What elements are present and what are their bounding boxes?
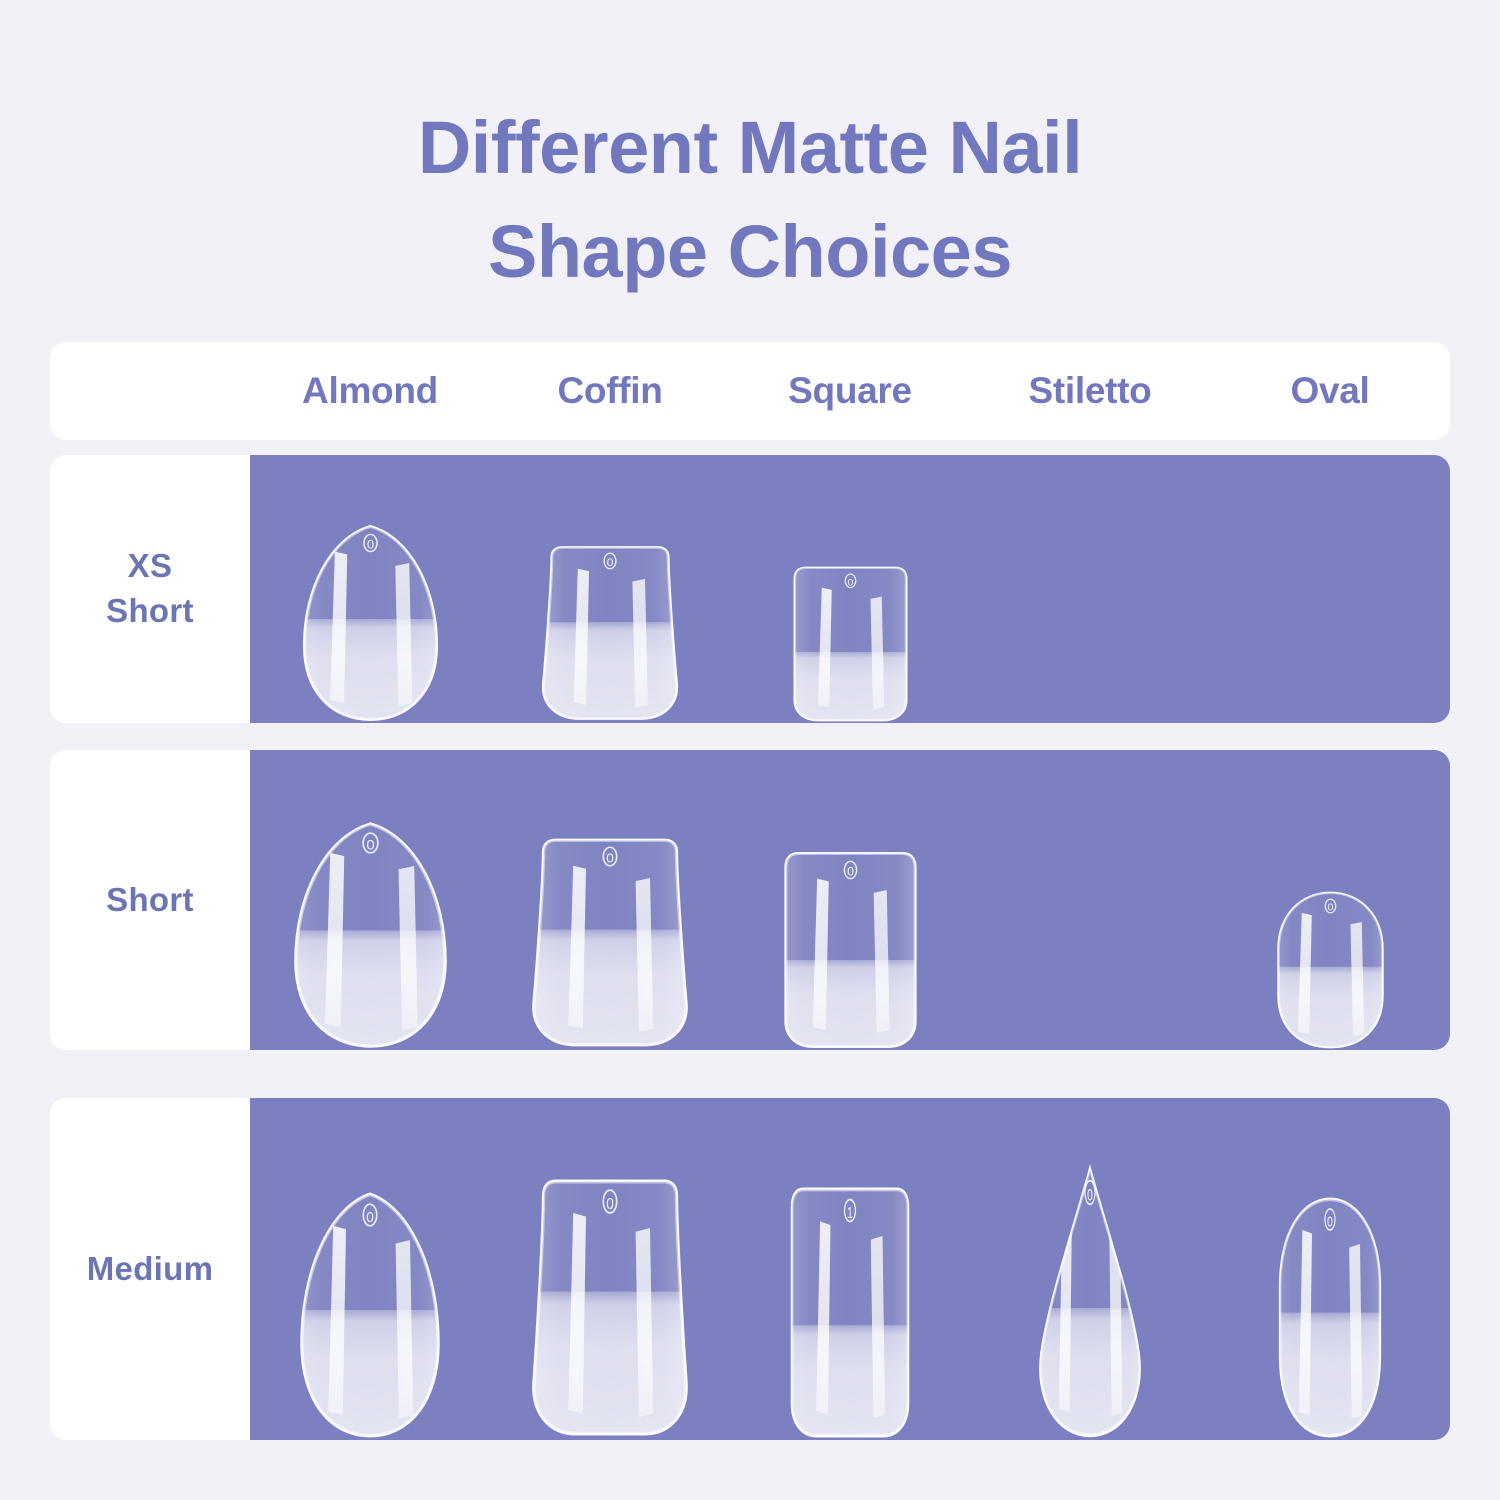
nail-cell-medium-stiletto: 0 [970, 1098, 1210, 1440]
nail-cell-medium-square: 1 [730, 1098, 970, 1440]
nail-size-marking-text: 0 [366, 1210, 374, 1227]
nail-cell-xs-short-coffin: 0 [490, 455, 730, 723]
nail-glitter-speckle [779, 1325, 922, 1440]
nail-almond-xs-short: 0 [293, 523, 448, 723]
nail-coffin-short: 0 [530, 835, 690, 1050]
nail-coffin-xs-short: 0 [540, 543, 680, 723]
nail-shape-square-svg: 0 [778, 850, 923, 1050]
nail-cell-xs-short-oval [1210, 455, 1450, 723]
row-label-line-2: Short [106, 589, 194, 634]
nail-size-marking-text: 0 [607, 558, 614, 569]
size-row-body-xs-short: 0 [250, 455, 1450, 723]
nail-size-marking-text: 0 [366, 538, 373, 551]
nail-body-group [282, 1190, 458, 1440]
column-header-oval: Oval [1210, 370, 1450, 412]
row-label-short: Short [106, 878, 194, 923]
nail-size-marking-text: 0 [1087, 1185, 1093, 1204]
page-title: Different Matte Nail Shape Choices [0, 96, 1500, 303]
nail-oval-short: 0 [1268, 890, 1393, 1050]
column-header-square: Square [730, 370, 970, 412]
nail-cell-short-coffin: 0 [490, 750, 730, 1050]
nail-size-marking-text: 0 [1327, 1213, 1333, 1230]
nail-size-marking-text: 0 [606, 1196, 614, 1213]
nail-size-marking-text: 0 [606, 851, 614, 866]
nail-shape-chart-page: Different Matte Nail Shape Choices Almon… [0, 0, 1500, 1500]
nail-body-group [522, 835, 698, 1050]
nail-glitter-speckle [781, 652, 919, 723]
nail-almond-short: 0 [283, 820, 458, 1050]
nail-glitter-speckle [285, 619, 456, 723]
nail-oval-medium: 0 [1270, 1195, 1390, 1440]
nail-square-medium: 1 [785, 1185, 915, 1440]
shape-name-columns: Almond Coffin Square Stiletto Oval [250, 342, 1450, 440]
nail-cell-xs-short-almond: 0 [250, 455, 490, 723]
nail-cell-medium-almond: 0 [250, 1098, 490, 1440]
nail-stiletto-medium: 0 [1030, 1165, 1150, 1440]
nail-shape-square-svg: 1 [785, 1185, 915, 1440]
row-label-xs-short: XS Short [106, 544, 194, 633]
row-label-medium: Medium [87, 1247, 213, 1292]
row-label-line-1: Medium [87, 1247, 213, 1292]
header-corner-spacer [50, 342, 250, 440]
size-row-body-short: 0 [250, 750, 1450, 1050]
nail-cell-xs-short-stiletto [970, 455, 1210, 723]
nail-cell-short-square: 0 [730, 750, 970, 1050]
nail-body-group [781, 565, 919, 723]
nail-shape-oval-svg: 0 [1268, 890, 1393, 1050]
row-label-cell-xs-short: XS Short [50, 455, 250, 723]
nail-body-group [533, 543, 687, 723]
page-title-line-2: Shape Choices [0, 200, 1500, 304]
nail-body-group [779, 1185, 922, 1440]
nail-glitter-speckle [533, 622, 687, 723]
nail-cell-medium-oval: 0 [1210, 1098, 1450, 1440]
nail-glitter-speckle [282, 1310, 458, 1440]
nail-body-group [1261, 890, 1399, 1050]
nail-shape-stiletto-svg: 0 [1030, 1165, 1150, 1440]
nail-glitter-speckle [522, 1292, 698, 1440]
nail-almond-medium: 0 [290, 1190, 450, 1440]
nail-body-group [522, 1175, 698, 1440]
nail-shape-almond-svg: 0 [290, 1190, 450, 1440]
nail-size-marking-text: 0 [847, 578, 853, 588]
row-label-cell-short: Short [50, 750, 250, 1050]
nail-body-group [1264, 1195, 1396, 1440]
nail-shape-square-svg: 0 [788, 565, 913, 723]
nail-glitter-speckle [770, 960, 930, 1050]
nail-glitter-speckle [1024, 1308, 1156, 1440]
nail-glitter-speckle [1264, 1313, 1396, 1440]
row-label-cell-medium: Medium [50, 1098, 250, 1440]
nail-cell-medium-coffin: 0 [490, 1098, 730, 1440]
row-label-line-1: Short [106, 878, 194, 923]
size-row-xs-short: XS Short [50, 455, 1450, 723]
row-label-line-1: XS [106, 544, 194, 589]
nail-glitter-speckle [1261, 967, 1399, 1050]
nail-shape-coffin-svg: 0 [530, 1175, 690, 1440]
nail-cell-short-stiletto [970, 750, 1210, 1050]
nail-square-xs-short: 0 [788, 565, 913, 723]
nail-size-marking-text: 0 [366, 838, 374, 853]
nail-shape-almond-svg: 0 [283, 820, 458, 1050]
size-row-short: Short [50, 750, 1450, 1050]
nail-coffin-medium: 0 [530, 1175, 690, 1440]
page-title-line-1: Different Matte Nail [0, 96, 1500, 200]
size-row-medium: Medium [50, 1098, 1450, 1440]
nail-shape-oval-svg: 0 [1270, 1195, 1390, 1440]
column-header-coffin: Coffin [490, 370, 730, 412]
nail-shape-coffin-svg: 0 [540, 543, 680, 723]
nail-body-group [274, 820, 467, 1050]
size-row-body-medium: 0 [250, 1098, 1450, 1440]
column-header-stiletto: Stiletto [970, 370, 1210, 412]
nail-square-short: 0 [778, 850, 923, 1050]
nail-size-marking-text: 1 [847, 1204, 853, 1221]
nail-shape-coffin-svg: 0 [530, 835, 690, 1050]
nail-cell-short-almond: 0 [250, 750, 490, 1050]
nail-glitter-speckle [522, 930, 698, 1050]
nail-size-marking-text: 0 [847, 865, 854, 879]
nail-cell-xs-short-square: 0 [730, 455, 970, 723]
nail-cell-short-oval: 0 [1210, 750, 1450, 1050]
nail-body-group [285, 523, 456, 723]
nail-size-marking-text: 0 [1327, 903, 1333, 913]
nail-shape-almond-svg: 0 [293, 523, 448, 723]
nail-glitter-speckle [274, 930, 467, 1050]
shape-name-header-row: Almond Coffin Square Stiletto Oval [50, 342, 1450, 440]
column-header-almond: Almond [250, 370, 490, 412]
nail-body-group [770, 850, 930, 1050]
